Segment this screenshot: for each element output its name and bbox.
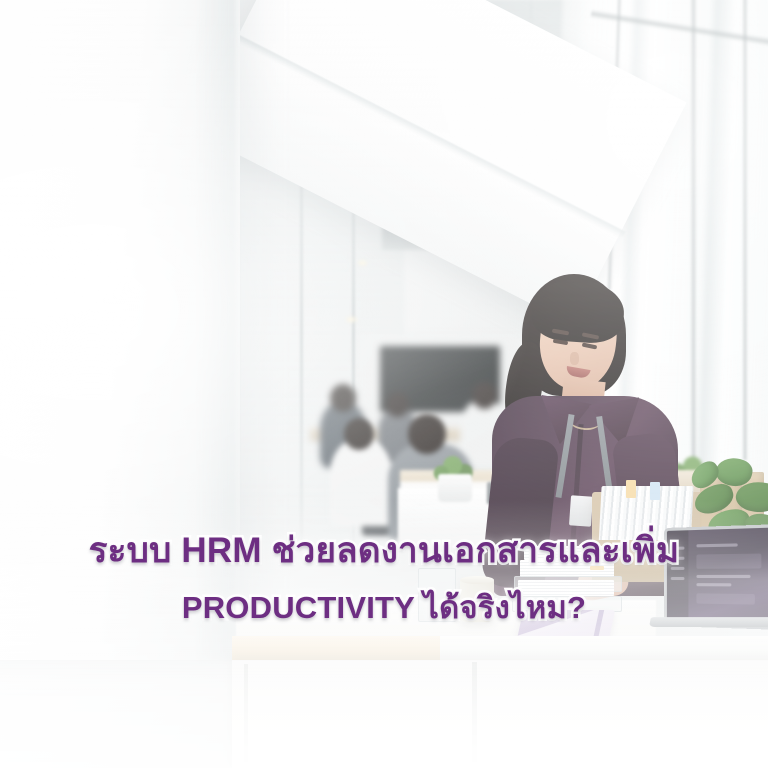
window-mullion [742,0,748,460]
desk-leg [244,664,248,768]
headline-block: ระบบ HRM ช่วยลดงานเอกสารและเพิ่ม PRODUCT… [0,528,768,630]
headline-line-1: ระบบ HRM ช่วยลดงานเอกสารและเพิ่ม [0,528,768,574]
coworker-head [344,418,374,450]
hair-front [530,277,626,345]
hrm-promo-banner: ระบบ HRM ช่วยลดงานเอกสารและเพิ่ม PRODUCT… [0,0,768,768]
coworker-white-shirt [330,440,392,526]
coworker-head [408,414,446,454]
desk-surface-white [440,636,768,660]
folder-tab [626,480,636,498]
headline-line-2: PRODUCTIVITY ได้จริงไหม? [0,586,768,630]
nose [570,352,579,365]
ceiling-downlight [357,260,368,266]
desk-front-panel [232,660,768,768]
folder-tab [650,482,660,500]
desk-leg [472,662,477,768]
desk-plant-pot [438,474,472,502]
ceiling-downlight [345,316,358,323]
office-photo-scene [0,0,768,768]
id-badge [569,495,593,526]
